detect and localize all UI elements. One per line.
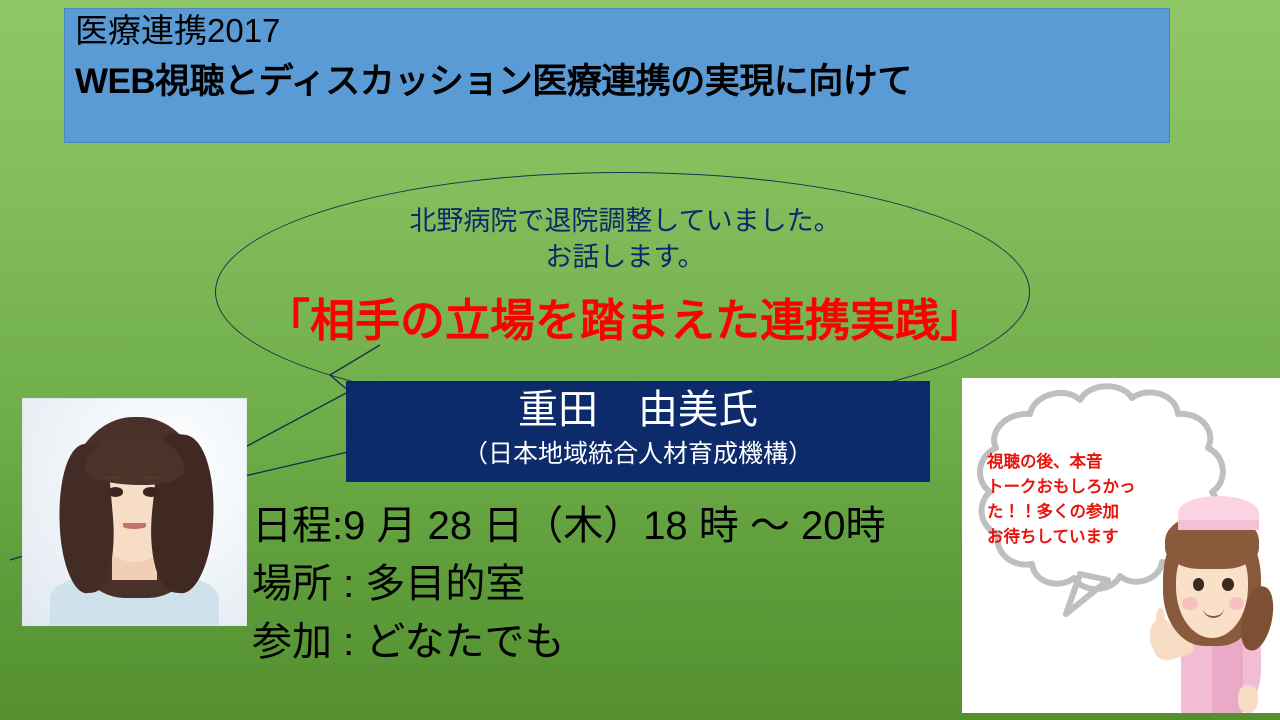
bubble-line-2: トークおもしろかっ — [987, 475, 1172, 500]
speaker-name-box: 重田 由美氏 （日本地域統合人材育成機構） — [346, 381, 930, 482]
detail-row-date: 日程:9 月 28 日（木）18 時 ～ 20時 — [252, 497, 972, 555]
portrait-eye-left — [108, 487, 124, 496]
detail-row-venue: 場所 : 多目的室 — [252, 555, 972, 613]
nurse-cap-band — [1178, 520, 1259, 531]
callout-message: 北野病院で退院調整していました。 お話します。 — [300, 203, 950, 275]
speaker-affiliation-text: （日本地域統合人材育成機構） — [346, 437, 930, 471]
speaker-name-text: 重田 由美氏 — [346, 384, 930, 436]
nurse-illustration-panel: 視聴の後、本音 トークおもしろかっ た！！多くの参加 お待ちしています — [962, 378, 1280, 713]
bubble-line-1: 視聴の後、本音 — [987, 450, 1172, 475]
callout-quote-title: 「相手の立場を踏まえた連携実践」 — [200, 293, 1050, 349]
bubble-line-4: お待ちしています — [987, 525, 1172, 550]
nurse-eye-right — [1222, 578, 1234, 591]
event-details-list: 日程:9 月 28 日（木）18 時 ～ 20時 場所 : 多目的室 参加 : … — [252, 497, 972, 671]
bubble-line-3: た！！多くの参加 — [987, 500, 1172, 525]
nurse-pocket — [1217, 659, 1235, 680]
header-kicker-text: 医療連携2017 — [75, 11, 280, 51]
header-title-text: WEB視聴とディスカッション医療連携の実現に向けて — [75, 59, 912, 105]
header-banner: 医療連携2017 WEB視聴とディスカッション医療連携の実現に向けて — [64, 8, 1170, 143]
nurse-character-icon — [1147, 496, 1277, 711]
nurse-cheek-left — [1182, 597, 1198, 610]
bubble-message: 視聴の後、本音 トークおもしろかっ た！！多くの参加 お待ちしています — [987, 450, 1172, 550]
speaker-portrait-photo — [22, 398, 247, 626]
detail-row-audience: 参加 : どなたでも — [252, 613, 972, 671]
portrait-eye-right — [143, 487, 159, 496]
nurse-hand-right — [1238, 685, 1258, 713]
callout-message-line-2: お話します。 — [300, 239, 950, 275]
slide-canvas: 医療連携2017 WEB視聴とディスカッション医療連携の実現に向けて 北野病院で… — [0, 0, 1280, 720]
callout-message-line-1: 北野病院で退院調整していました。 — [300, 203, 950, 239]
nurse-eye-left — [1193, 578, 1205, 591]
